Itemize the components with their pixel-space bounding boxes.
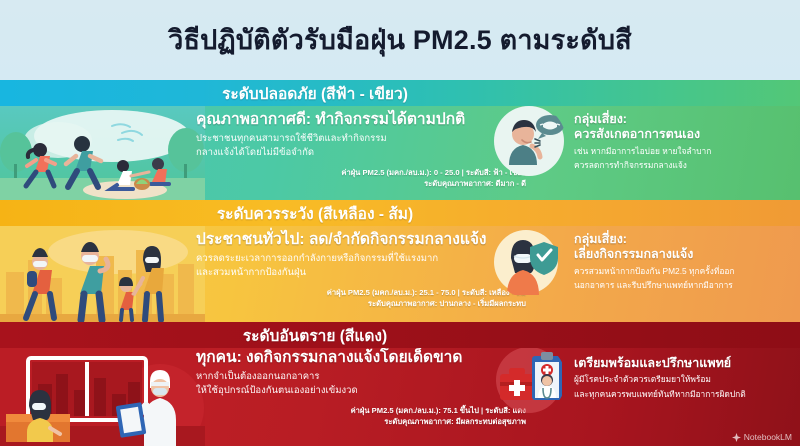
indoor-medical-staff-illustration (0, 348, 205, 446)
band-safe-advice: กลุ่มเสี่ยง: ควรสังเกตอาการตนเอง เช่น หา… (492, 104, 792, 178)
park-outdoor-activity-illustration (0, 106, 205, 200)
band-caution-aqi-line: ระดับคุณภาพอากาศ: ปานกลาง - เริ่มมีผลกระ… (196, 298, 526, 309)
band-caution-sub-line-1: ควรลดระยะเวลาการออกกำลังกายหรือกิจกรรมที… (196, 252, 526, 266)
band-caution-header: ระดับควรระวัง (สีเหลือง - ส้ม) (0, 200, 800, 226)
first-aid-kit-doctor-clipboard-icon (492, 342, 566, 416)
band-safe-advice-sub-1: เช่น หากมีอาการไอบ่อย หายใจลำบาก (574, 145, 711, 157)
band-safe-header-label: ระดับปลอดภัย (สีฟ้า - เขียว) (222, 81, 578, 106)
band-caution-advice-sub-2: นอกอาคาร และรีบปรึกษาแพทย์หากมีอาการ (574, 279, 734, 291)
band-caution-advice-title-1: กลุ่มเสี่ยง: (574, 232, 734, 247)
band-safe-fineprint: ค่าฝุ่น PM2.5 (มคก./ลบ.ม.): 0 - 25.0 | ร… (196, 167, 526, 190)
band-safe-advice-title-2: ควรสังเกตอาการตนเอง (574, 127, 711, 142)
band-danger-aqi-line: ระดับคุณภาพอากาศ: มีผลกระทบต่อสุขภาพ (196, 416, 526, 427)
band-safe-sub-line-2: กลางแจ้งได้โดยไม่มีข้อจำกัด (196, 146, 526, 160)
band-danger-headline: ทุกคน: งดกิจกรรมกลางแจ้งโดยเด็ดขาด (196, 348, 526, 367)
band-danger-advice-sub-2: และทุกคนควรพบแพทย์ทันทีหากมีอาการผิดปกติ (574, 388, 746, 400)
band-caution-header-background (0, 200, 800, 226)
band-danger-advice-text: เตรียมพร้อมและปรึกษาแพทย์ ผู้มีโรคประจำต… (574, 342, 746, 400)
band-caution-advice-title-2: เลี่ยงกิจกรรมกลางแจ้ง (574, 247, 734, 262)
band-danger: ทุกคน: งดกิจกรรมกลางแจ้งโดยเด็ดขาด หากจำ… (0, 322, 800, 446)
band-caution: ประชาชนทั่วไป: ลด/จำกัดกิจกรรมกลางแจ้ง ค… (0, 200, 800, 322)
band-caution-advice: กลุ่มเสี่ยง: เลี่ยงกิจกรรมกลางแจ้ง ควรสว… (492, 224, 792, 298)
infographic-page: วิธีปฏิบัติตัวรับมือฝุ่น PM2.5 ตามระดับส… (0, 0, 800, 446)
band-caution-text: ประชาชนทั่วไป: ลด/จำกัดกิจกรรมกลางแจ้ง ค… (196, 230, 526, 310)
band-danger-advice-title-1: เตรียมพร้อมและปรึกษาแพทย์ (574, 356, 746, 371)
band-safe-advice-sub-2: ควรลดการทำกิจกรรมกลางแจ้ง (574, 159, 711, 171)
band-danger-fineprint: ค่าฝุ่น PM2.5 (มคก./ลบ.ม.): 75.1 ขึ้นไป … (196, 405, 526, 428)
watermark: NotebookLM (732, 432, 792, 442)
band-caution-header-label: ระดับควรระวัง (สีเหลือง - ส้ม) (217, 201, 583, 226)
band-danger-advice: เตรียมพร้อมและปรึกษาแพทย์ ผู้มีโรคประจำต… (492, 342, 792, 416)
band-caution-fineprint: ค่าฝุ่น PM2.5 (มคก./ลบ.ม.): 25.1 - 75.0 … (196, 287, 526, 310)
band-caution-advice-text: กลุ่มเสี่ยง: เลี่ยงกิจกรรมกลางแจ้ง ควรสว… (574, 224, 734, 291)
band-danger-text: ทุกคน: งดกิจกรรมกลางแจ้งโดยเด็ดขาด หากจำ… (196, 348, 526, 428)
band-safe-advice-title-1: กลุ่มเสี่ยง: (574, 112, 711, 127)
band-safe-text: คุณภาพอากาศดี: ทำกิจกรรมได้ตามปกติ ประชา… (196, 110, 526, 190)
notebooklm-spark-icon (732, 433, 741, 442)
watermark-label: NotebookLM (744, 432, 792, 442)
band-danger-advice-sub-1: ผู้มีโรคประจำตัวควรเตรียมยาให้พร้อม (574, 373, 746, 385)
band-safe-aqi-line: ระดับคุณภาพอากาศ: ดีมาก - ดี (196, 178, 526, 189)
band-caution-pm-line: ค่าฝุ่น PM2.5 (มคก./ลบ.ม.): 25.1 - 75.0 … (196, 287, 526, 298)
band-danger-sub-line-1: หากจำเป็นต้องออกนอกอาคาร (196, 370, 526, 384)
band-caution-advice-sub-1: ควรสวมหน้ากากป้องกัน PM2.5 ทุกครั้งที่ออ… (574, 265, 734, 277)
band-caution-headline: ประชาชนทั่วไป: ลด/จำกัดกิจกรรมกลางแจ้ง (196, 230, 526, 249)
masked-woman-shield-check-icon (492, 224, 566, 298)
band-safe-header: ระดับปลอดภัย (สีฟ้า - เขียว) (0, 80, 800, 106)
band-danger-sub-line-2: ให้ใช้อุปกรณ์ป้องกันตนเองอย่างเข้มงวด (196, 384, 526, 398)
band-caution-sub-line-2: และสวมหน้ากากป้องกันฝุ่น (196, 266, 526, 280)
coughing-person-mask-bubble-icon (492, 104, 566, 178)
band-danger-pm-line: ค่าฝุ่น PM2.5 (มคก./ลบ.ม.): 75.1 ขึ้นไป … (196, 405, 526, 416)
band-safe: คุณภาพอากาศดี: ทำกิจกรรมได้ตามปกติ ประชา… (0, 80, 800, 200)
band-safe-headline: คุณภาพอากาศดี: ทำกิจกรรมได้ตามปกติ (196, 110, 526, 129)
masked-family-city-illustration (0, 226, 205, 322)
page-title: วิธีปฏิบัติตัวรับมือฝุ่น PM2.5 ตามระดับส… (168, 27, 632, 54)
band-safe-pm-line: ค่าฝุ่น PM2.5 (มคก./ลบ.ม.): 0 - 25.0 | ร… (196, 167, 526, 178)
title-bar: วิธีปฏิบัติตัวรับมือฝุ่น PM2.5 ตามระดับส… (0, 0, 800, 80)
band-safe-header-background (0, 80, 800, 106)
band-safe-advice-text: กลุ่มเสี่ยง: ควรสังเกตอาการตนเอง เช่น หา… (574, 104, 711, 171)
band-safe-sub-line-1: ประชาชนทุกคนสามารถใช้ชีวิตและทำกิจกรรม (196, 132, 526, 146)
